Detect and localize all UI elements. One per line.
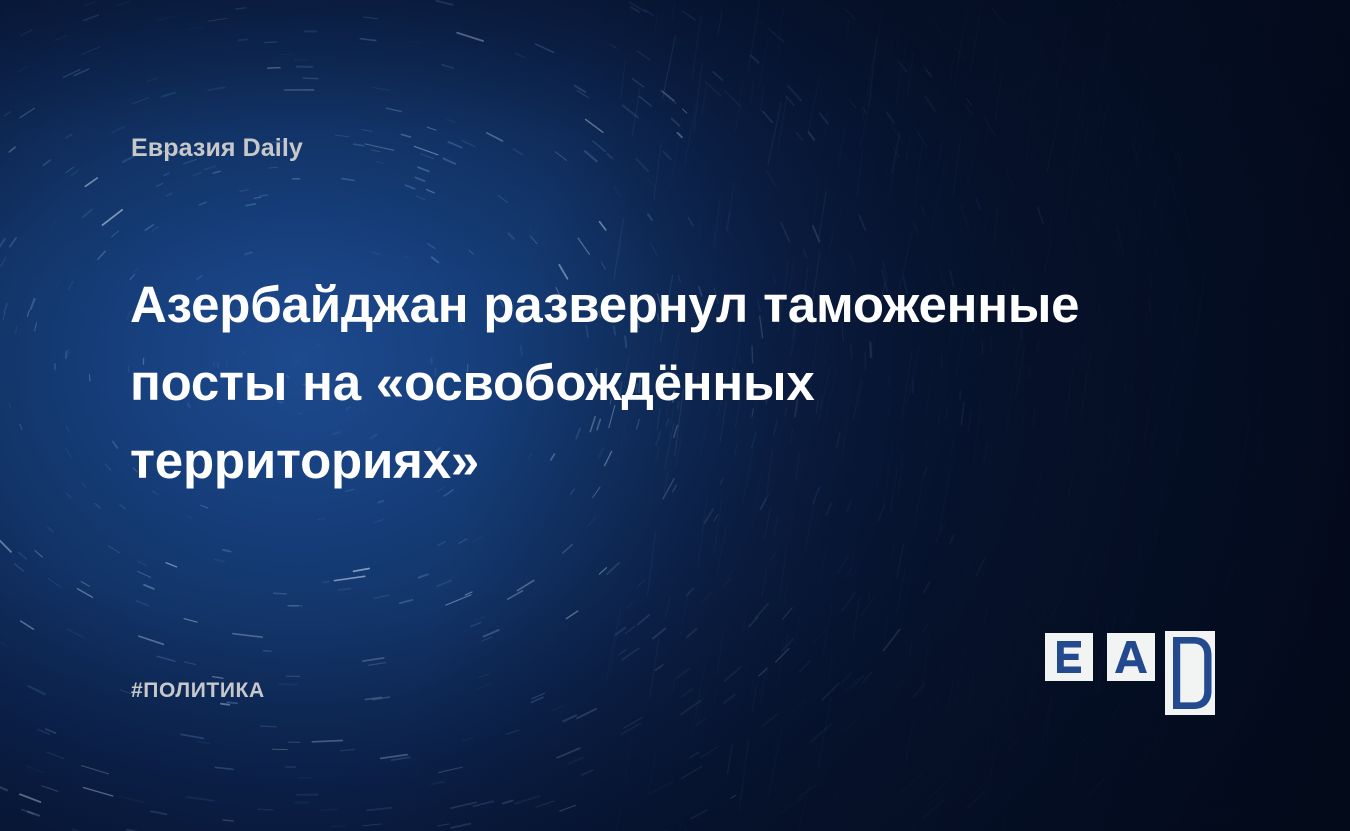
logo-letter-a-icon (1107, 633, 1155, 681)
category-tag[interactable]: #ПОЛИТИКА (131, 679, 265, 703)
logo-letter-d-bottom-icon (1165, 673, 1215, 715)
card-content: Евразия Daily Азербайджан развернул тамо… (0, 0, 1350, 831)
headline-line-1: Азербайджан развернул таможенные (130, 266, 1200, 344)
logo-tile-d-bottom (1165, 673, 1215, 715)
site-name: Евразия Daily (131, 134, 303, 163)
news-share-card: Евразия Daily Азербайджан развернул тамо… (0, 0, 1350, 831)
logo-letter-e-icon (1045, 633, 1093, 681)
logo-tile-d-top (1165, 631, 1215, 673)
eadaily-logo[interactable] (1045, 631, 1220, 715)
logo-tile-e (1045, 633, 1093, 681)
headline-line-3: территориях» (130, 422, 1200, 500)
page-title: Азербайджан развернул таможенные посты н… (130, 266, 1200, 500)
headline-line-2: посты на «освобождённых (130, 344, 1200, 422)
logo-letter-d-top-icon (1165, 631, 1215, 673)
logo-tile-a (1107, 633, 1155, 681)
